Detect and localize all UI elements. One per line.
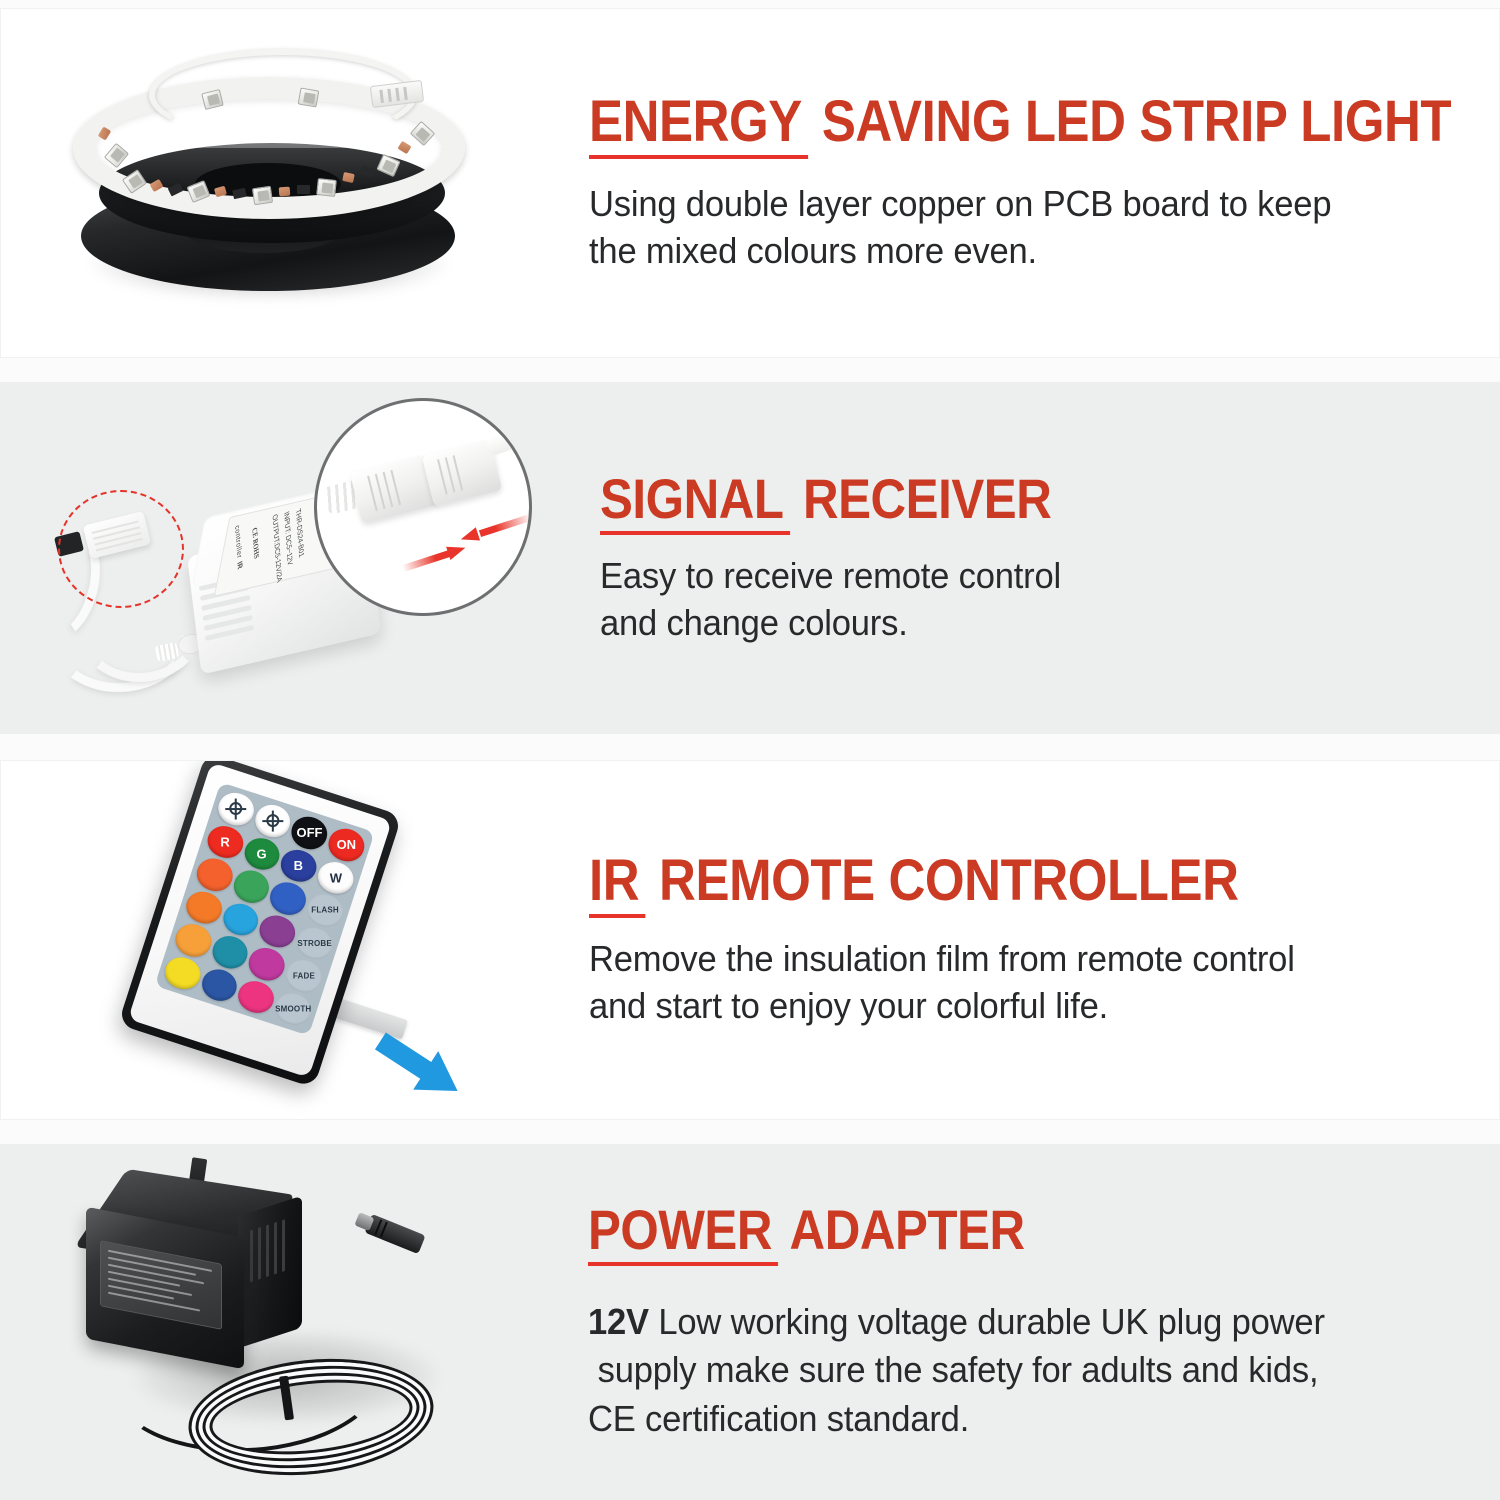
remote-key-purple[interactable]: [256, 911, 300, 952]
remote-key-label: SMOOTH: [275, 1004, 311, 1013]
feature-text-signal-receiver: SIGNAL RECEIVER Easy to receive remote c…: [560, 470, 1500, 647]
highlight-dashed-circle: [58, 490, 184, 608]
remote-key-orange-red[interactable]: [193, 854, 237, 895]
remote-key-label: FLASH: [311, 906, 339, 915]
label-output-rating: OUTPUT:DC5-12V/2A: [271, 513, 283, 584]
body-line-1-rest: Low working voltage durable UK plug powe…: [649, 1301, 1325, 1342]
body-line-1: Remove the insulation film from remote c…: [589, 936, 1447, 983]
remote-key-pink[interactable]: [234, 976, 278, 1017]
remote-key-teal[interactable]: [208, 932, 252, 973]
heading-power-adapter: POWER ADAPTER: [588, 1201, 1376, 1258]
dc-barrel-connector: [364, 1214, 425, 1254]
voltage-value: 12V: [588, 1301, 649, 1342]
body-line-3: CE certification standard.: [588, 1395, 1448, 1443]
body-line-2: and change colours.: [600, 600, 1449, 647]
remote-key-orange[interactable]: [182, 887, 226, 928]
remote-key-strobe[interactable]: STROBE: [292, 923, 336, 964]
body-line-2: supply make sure the safety for adults a…: [588, 1346, 1448, 1394]
remote-key-r[interactable]: R: [204, 821, 248, 862]
feature-text-power-adapter: POWER ADAPTER 12V Low working voltage du…: [560, 1201, 1500, 1443]
inset-arrow-right-icon: [400, 541, 467, 575]
brightness-icon: [266, 814, 279, 827]
remote-key-on[interactable]: ON: [324, 824, 368, 865]
body-line-1: 12V Low working voltage durable UK plug …: [588, 1298, 1448, 1346]
remote-key-label: ON: [337, 837, 357, 852]
body-line-1: Easy to receive remote control: [600, 553, 1449, 600]
product-feature-infographic: ENERGY SAVING LED STRIP LIGHT Using doub…: [0, 0, 1500, 1500]
remote-key-fade[interactable]: FADE: [282, 955, 326, 996]
inset-arrow-left-icon: [459, 510, 532, 546]
label-device-type: controller: [233, 524, 242, 560]
remote-key-brightness-up[interactable]: [214, 788, 258, 829]
remote-key-label: STROBE: [297, 939, 332, 948]
feature-text-led-strip: ENERGY SAVING LED STRIP LIGHT Using doub…: [561, 92, 1500, 275]
body-line-1: Using double layer copper on PCB board t…: [589, 181, 1500, 228]
body-text-power-adapter: 12V Low working voltage durable UK plug …: [588, 1298, 1448, 1443]
ir-remote-image: OFFONRGBWFLASHSTROBEFADESMOOTH: [1, 761, 561, 1119]
brightness-icon: [229, 802, 242, 815]
remote-key-amber[interactable]: [172, 920, 216, 961]
feature-panel-ir-remote: OFFONRGBWFLASHSTROBEFADESMOOTH IR REMOTE…: [0, 760, 1500, 1120]
heading-energy-saving-led-strip-light: ENERGY SAVING LED STRIP LIGHT: [589, 92, 1451, 151]
heading-rest: REMOTE CONTROLLER: [645, 848, 1238, 913]
heading-ir-remote-controller: IR REMOTE CONTROLLER: [589, 851, 1376, 910]
signal-receiver-image: THR-DS24-B01 INPUT: DC5~12V OUTPUT:DC5-1…: [0, 382, 560, 734]
body-line-2: and start to enjoy your colorful life.: [589, 983, 1447, 1030]
remote-key-label: G: [257, 846, 267, 861]
feature-panel-signal-receiver: THR-DS24-B01 INPUT: DC5~12V OUTPUT:DC5-1…: [0, 382, 1500, 734]
body-text-signal-receiver: Easy to receive remote control and chang…: [600, 553, 1449, 647]
connector-magnifier-inset: [314, 398, 532, 616]
label-input-rating: INPUT: DC5~12V: [282, 511, 293, 568]
remote-body: OFFONRGBWFLASHSTROBEFADESMOOTH: [118, 760, 402, 1088]
remote-key-green-mid[interactable]: [230, 866, 274, 907]
remote-keypad[interactable]: OFFONRGBWFLASHSTROBEFADESMOOTH: [155, 782, 375, 1036]
power-adapter-image: [0, 1144, 560, 1500]
remote-key-flash[interactable]: FLASH: [303, 890, 347, 931]
remote-key-label: B: [294, 858, 303, 873]
remote-key-label: FADE: [293, 971, 315, 980]
label-certification: CE ROHS: [250, 526, 260, 561]
remote-key-cyan-blue[interactable]: [219, 899, 263, 940]
feature-text-ir-remote: IR REMOTE CONTROLLER Remove the insulati…: [561, 851, 1499, 1030]
feature-panel-led-strip: ENERGY SAVING LED STRIP LIGHT Using doub…: [0, 8, 1500, 358]
remote-key-blue-mid[interactable]: [266, 878, 310, 919]
feature-panel-power-adapter: POWER ADAPTER 12V Low working voltage du…: [0, 1144, 1500, 1500]
body-text-led-strip: Using double layer copper on PCB board t…: [589, 181, 1500, 275]
heading-rest: ADAPTER: [778, 1198, 1025, 1261]
heading-underlined-word: ENERGY: [589, 89, 808, 159]
remote-key-g[interactable]: G: [240, 833, 284, 874]
remote-key-label: OFF: [296, 825, 322, 840]
label-device-mode: IR: [235, 560, 242, 570]
remote-key-navy[interactable]: [198, 964, 242, 1005]
remote-key-label: R: [221, 834, 230, 849]
heading-underlined-word: IR: [589, 848, 645, 918]
remote-key-smooth[interactable]: SMOOTH: [271, 988, 315, 1029]
signal-receiver-illustration: THR-DS24-B01 INPUT: DC5~12V OUTPUT:DC5-1…: [10, 388, 558, 728]
remote-key-label: W: [330, 870, 342, 885]
remote-key-w[interactable]: W: [314, 857, 358, 898]
label-model-number: THR-DS24-B01: [294, 508, 304, 559]
inset-lead-wire: [483, 423, 532, 458]
remote-key-magenta[interactable]: [245, 943, 289, 984]
pull-direction-arrow-icon: [368, 1022, 470, 1111]
remote-faceplate: OFFONRGBWFLASHSTROBEFADESMOOTH: [128, 762, 392, 1077]
body-line-2: the mixed colours more even.: [589, 228, 1500, 275]
remote-key-brightness-down[interactable]: [251, 800, 295, 841]
heading-underlined-word: POWER: [588, 1198, 778, 1266]
power-adapter-illustration: [40, 1154, 540, 1494]
led-strip-reel-image: [1, 9, 561, 357]
heading-rest: RECEIVER: [790, 467, 1052, 530]
remote-key-yellow[interactable]: [161, 952, 205, 993]
body-text-ir-remote: Remove the insulation film from remote c…: [589, 936, 1447, 1030]
led-strip-reel-illustration: [53, 31, 493, 331]
ir-remote-illustration: OFFONRGBWFLASHSTROBEFADESMOOTH: [61, 771, 541, 1111]
remote-key-off[interactable]: OFF: [288, 812, 332, 853]
heading-rest: SAVING LED STRIP LIGHT: [808, 89, 1451, 154]
remote-key-b[interactable]: B: [277, 845, 321, 886]
heading-signal-receiver: SIGNAL RECEIVER: [600, 470, 1378, 527]
heading-underlined-word: SIGNAL: [600, 467, 790, 535]
